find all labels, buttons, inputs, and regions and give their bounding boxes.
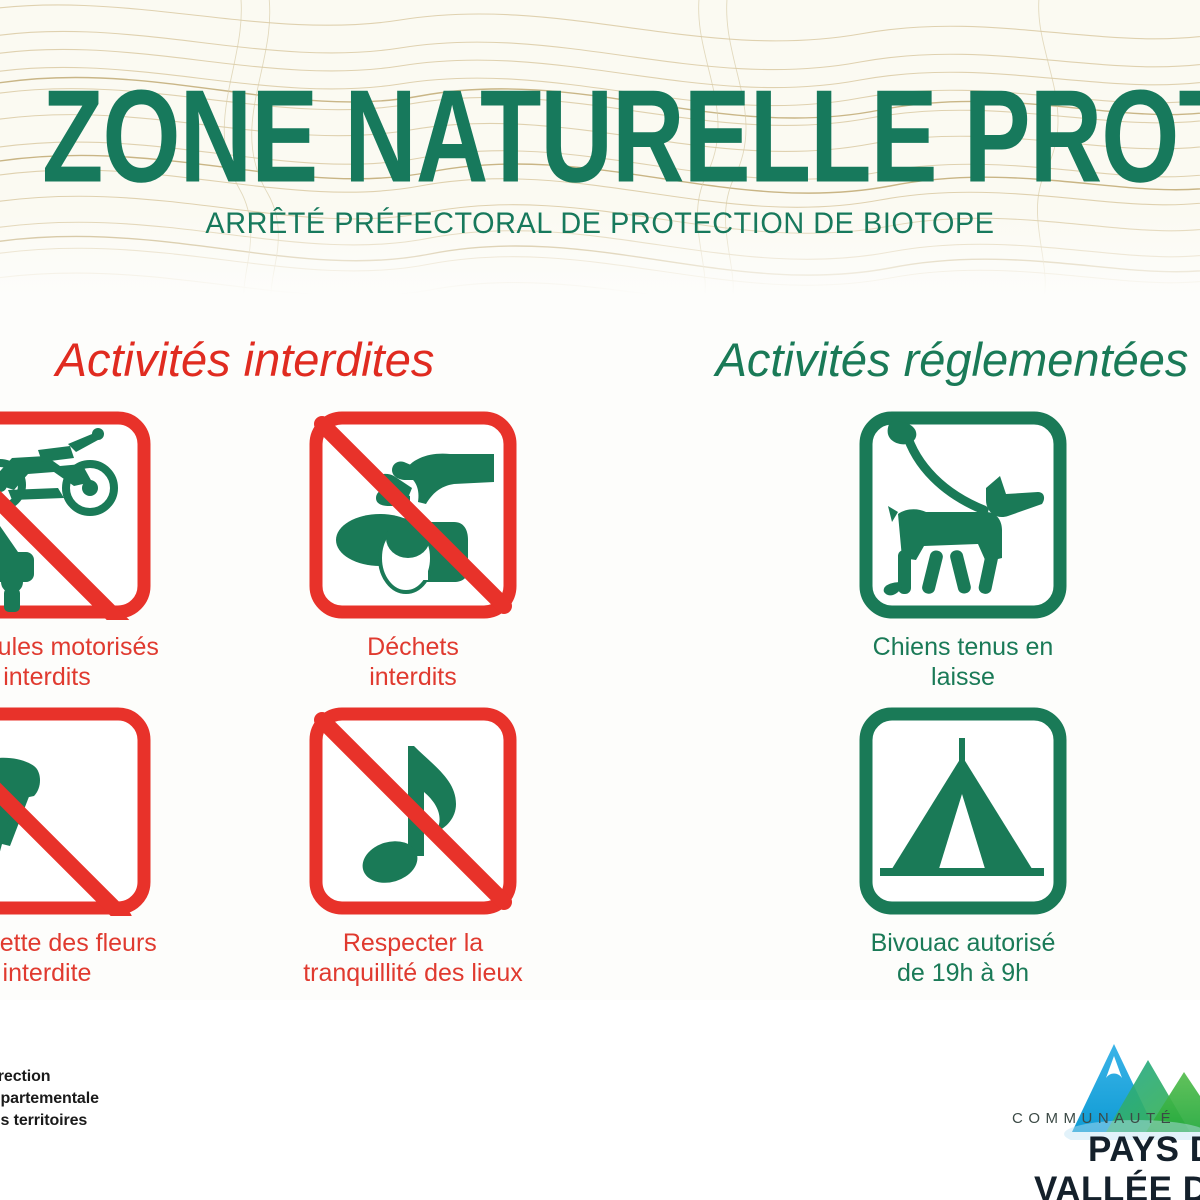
agency-name: Direction départementale des territoires — [0, 1066, 99, 1132]
music-note-icon — [308, 706, 518, 916]
icon-cell-motor-vehicles: Véhicules motorisés interdits — [0, 410, 162, 692]
tent-icon — [858, 706, 1068, 916]
dog-on-leash-icon — [858, 410, 1068, 620]
section-heading-regulated: Activités réglementées — [672, 332, 1200, 388]
icon-cell-dogs: Chiens tenus en laisse — [848, 410, 1078, 692]
logo-line-vallee: VALLÉE D'AI — [1010, 1170, 1200, 1200]
icon-caption: Déchets interdits — [298, 632, 528, 692]
community-logo: COMMUNAUTÉ PAYS DE VALLÉE D'AI — [1010, 1030, 1200, 1200]
icon-caption: Véhicules motorisés interdits — [0, 632, 162, 692]
poster-root: ZONE NATURELLE PROTÉGÉE ARRÊTÉ PRÉFECTOR… — [0, 0, 1200, 1200]
icon-caption: Chiens tenus en laisse — [848, 632, 1078, 692]
motor-vehicle-icon — [0, 410, 152, 620]
logo-line-communaute: COMMUNAUTÉ — [1010, 1110, 1200, 1127]
icon-cell-flower-picking: Cueillette des fleurs interdite — [0, 706, 162, 988]
page-subtitle: ARRÊTÉ PRÉFECTORAL DE PROTECTION DE BIOT… — [24, 206, 1176, 242]
icon-cell-bivouac: Bivouac autorisé de 19h à 9h — [848, 706, 1078, 988]
icon-caption: Cueillette des fleurs interdite — [0, 928, 162, 988]
litter-icon — [308, 410, 518, 620]
page-title: ZONE NATURELLE PROTÉGÉE — [42, 68, 1158, 205]
flower-picking-icon — [0, 706, 152, 916]
icon-caption: Respecter la tranquillité des lieux — [298, 928, 528, 988]
icon-cell-noise: Respecter la tranquillité des lieux — [298, 706, 528, 988]
icon-caption: Bivouac autorisé de 19h à 9h — [848, 928, 1078, 988]
section-heading-forbidden: Activités interdites — [0, 332, 490, 388]
logo-line-pays: PAYS DE — [1010, 1130, 1200, 1170]
icon-cell-waste: Déchets interdits — [298, 410, 528, 692]
